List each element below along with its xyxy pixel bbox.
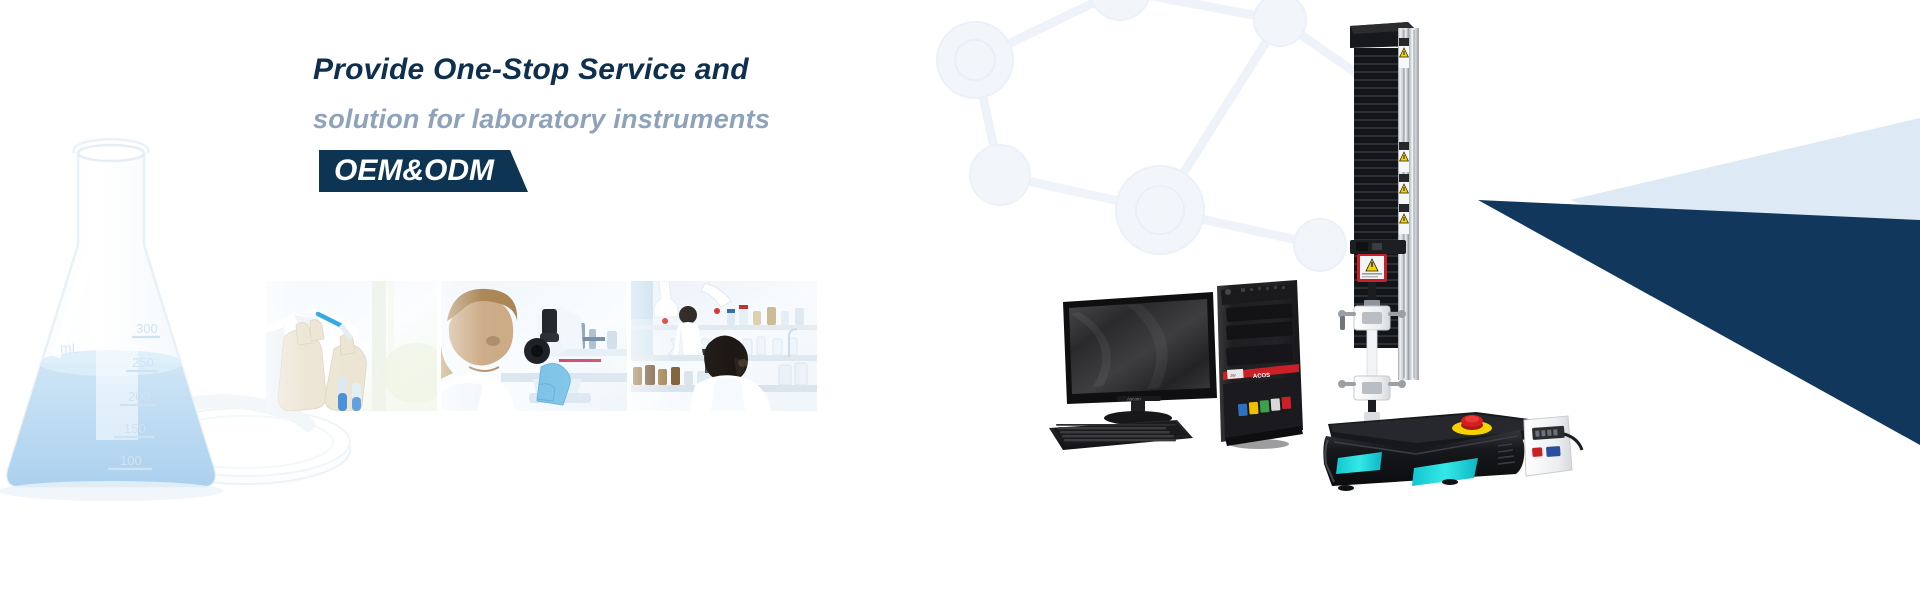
keyboard — [1049, 420, 1193, 450]
photo-panel-pipetting — [266, 281, 437, 411]
machine-base — [1323, 412, 1556, 491]
desktop-computer: Ascom — [1045, 280, 1335, 455]
svg-text:200: 200 — [128, 389, 150, 404]
svg-text:Ascom: Ascom — [1127, 397, 1141, 402]
monitor: Ascom — [1063, 292, 1217, 425]
svg-text:150: 150 — [124, 421, 146, 436]
photo-panel-lab-bench — [631, 281, 817, 411]
svg-text:300: 300 — [136, 321, 158, 336]
photo-panel-microscope — [441, 281, 627, 411]
svg-text:ACOS: ACOS — [1253, 373, 1271, 380]
headline-line-2: solution for laboratory instruments — [313, 106, 933, 133]
svg-text:100: 100 — [120, 453, 142, 468]
flask-graduations: 300 250 200 150 100 — [108, 321, 160, 469]
svg-text:250: 250 — [132, 355, 154, 370]
specimen — [1367, 330, 1377, 378]
promo-banner: 300 250 200 150 100 mL — [0, 0, 1920, 597]
tower-pc: JW ACOS — [1217, 280, 1303, 449]
lab-photo-strip — [266, 281, 817, 411]
badge-label: OEM&ODM — [319, 150, 528, 192]
flask-ml-label: mL — [60, 340, 80, 356]
svg-text:JW: JW — [1230, 373, 1236, 378]
arrow-triangle-pale — [1570, 118, 1920, 330]
petri-dish — [140, 401, 350, 484]
universal-testing-machine — [1320, 12, 1610, 467]
headline-line-1: Provide One-Stop Service and — [313, 55, 933, 85]
flask-body — [0, 139, 230, 495]
headline-block: Provide One-Stop Service and solution fo… — [313, 55, 933, 192]
svg-text:mL: mL — [60, 340, 80, 356]
control-panel — [1524, 416, 1582, 476]
oem-odm-badge: OEM&ODM — [319, 150, 528, 192]
